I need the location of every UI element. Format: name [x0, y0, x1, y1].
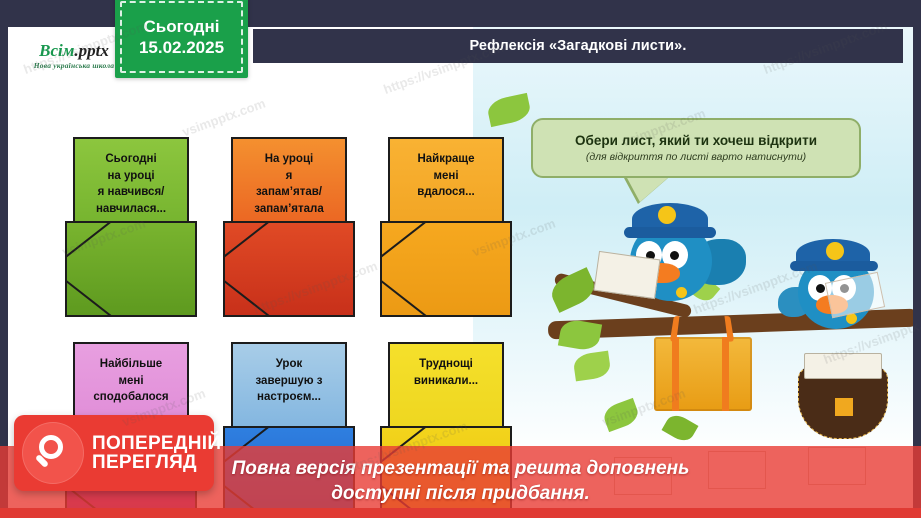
page-title: Рефлексія «Загадкові листи». [470, 38, 687, 54]
site-logo[interactable]: Всім.pptx Нова українська школа [18, 35, 130, 77]
parcel-strap [672, 337, 679, 411]
envelope-card[interactable]: На уроці я запам’ятав/ запам’ятала ... [223, 137, 355, 317]
cap-brim [624, 227, 716, 238]
preview-badge-text: ПОПЕРЕДНІЙ ПЕРЕГЛЯД [92, 434, 221, 473]
logo-text-secondary: .pptx [74, 41, 108, 60]
parcel-box [654, 337, 752, 411]
envelope-card[interactable]: Сьогодні на уроці я навчився/ навчилася.… [65, 137, 197, 317]
parcel-strap [722, 337, 729, 411]
cap-brim [790, 261, 878, 271]
purchase-banner-line2: доступні після придбання. [331, 482, 590, 507]
envelope-body [65, 221, 197, 317]
slide-title-bar: Рефлексія «Загадкові листи». [253, 29, 903, 63]
date-badge-label: Сьогодні [144, 16, 220, 37]
cap-badge [826, 242, 844, 260]
callout-primary-text: Обери лист, який ти хочеш відкрити [575, 133, 817, 148]
preview-badge-line1: ПОПЕРЕДНІЙ [92, 434, 221, 453]
envelope-card[interactable]: Найкраще мені вдалося... [380, 137, 512, 317]
bird-pupil [670, 251, 679, 260]
magnifier-ring-icon [39, 435, 63, 459]
cap-badge [658, 206, 676, 224]
logo-text-primary: Всім [39, 41, 74, 60]
letter-icon [594, 251, 661, 299]
logo-wordmark: Всім.pptx [39, 42, 109, 59]
bird-left [618, 197, 748, 327]
bag-clasp [835, 398, 853, 416]
magnifier-icon [22, 422, 84, 484]
chest-button [676, 287, 687, 298]
parcel-hanger [670, 316, 734, 342]
window-left-edge [0, 0, 8, 518]
preview-badge-line2: ПЕРЕГЛЯД [92, 453, 221, 472]
preview-badge[interactable]: ПОПЕРЕДНІЙ ПЕРЕГЛЯД [14, 415, 214, 491]
instruction-callout: Обери лист, який ти хочеш відкрити (для … [531, 118, 861, 178]
bag-letters [804, 353, 882, 379]
date-badge: Сьогодні 15.02.2025 [115, 0, 248, 78]
window-right-edge [913, 0, 921, 518]
presentation-slide: Всім.pptx Нова українська школа [0, 0, 921, 518]
callout-secondary-text: (для відкриття по листі варто натиснути) [586, 151, 806, 163]
callout-tail [626, 176, 670, 202]
purchase-banner-line1: Повна версія презентації та решта доповн… [232, 457, 690, 482]
envelope-body [380, 221, 512, 317]
banner-base-strip [0, 508, 921, 518]
logo-subtitle: Нова українська школа [34, 62, 115, 70]
date-badge-value: 15.02.2025 [139, 37, 224, 58]
bird-pupil [816, 284, 825, 293]
envelope-body [223, 221, 355, 317]
